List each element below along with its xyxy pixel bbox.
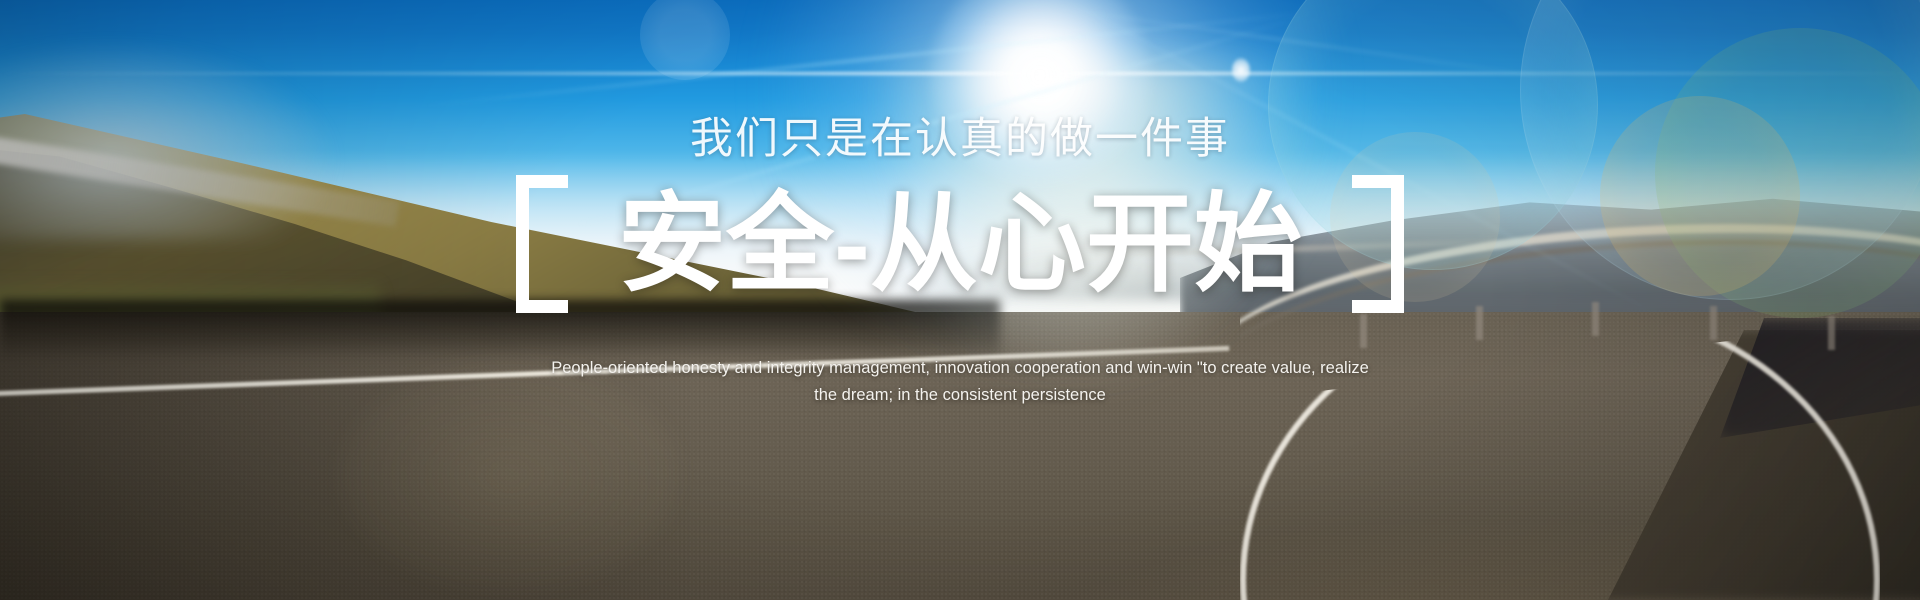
bracket-left-bottom-arm xyxy=(516,300,568,313)
hero-banner: 我们只是在认真的做一件事 安全-从心开始 People-oriented hon… xyxy=(0,0,1920,600)
bracket-right-bottom-arm xyxy=(1352,300,1404,313)
subtitle-line-2: the dream; in the consistent persistence xyxy=(545,382,1375,409)
bracket-right-icon xyxy=(1342,175,1404,313)
banner-headline: 安全-从心开始 xyxy=(618,189,1302,299)
bracket-left-icon xyxy=(516,175,578,313)
headline-row: 安全-从心开始 xyxy=(510,175,1410,313)
bracket-right-top-arm xyxy=(1352,175,1404,188)
bracket-left-top-arm xyxy=(516,175,568,188)
banner-kicker: 我们只是在认真的做一件事 xyxy=(690,118,1230,161)
subtitle-line-1: People-oriented honesty and integrity ma… xyxy=(545,355,1375,382)
banner-subtitle: People-oriented honesty and integrity ma… xyxy=(545,355,1375,408)
banner-content: 我们只是在认真的做一件事 安全-从心开始 People-oriented hon… xyxy=(0,0,1920,600)
